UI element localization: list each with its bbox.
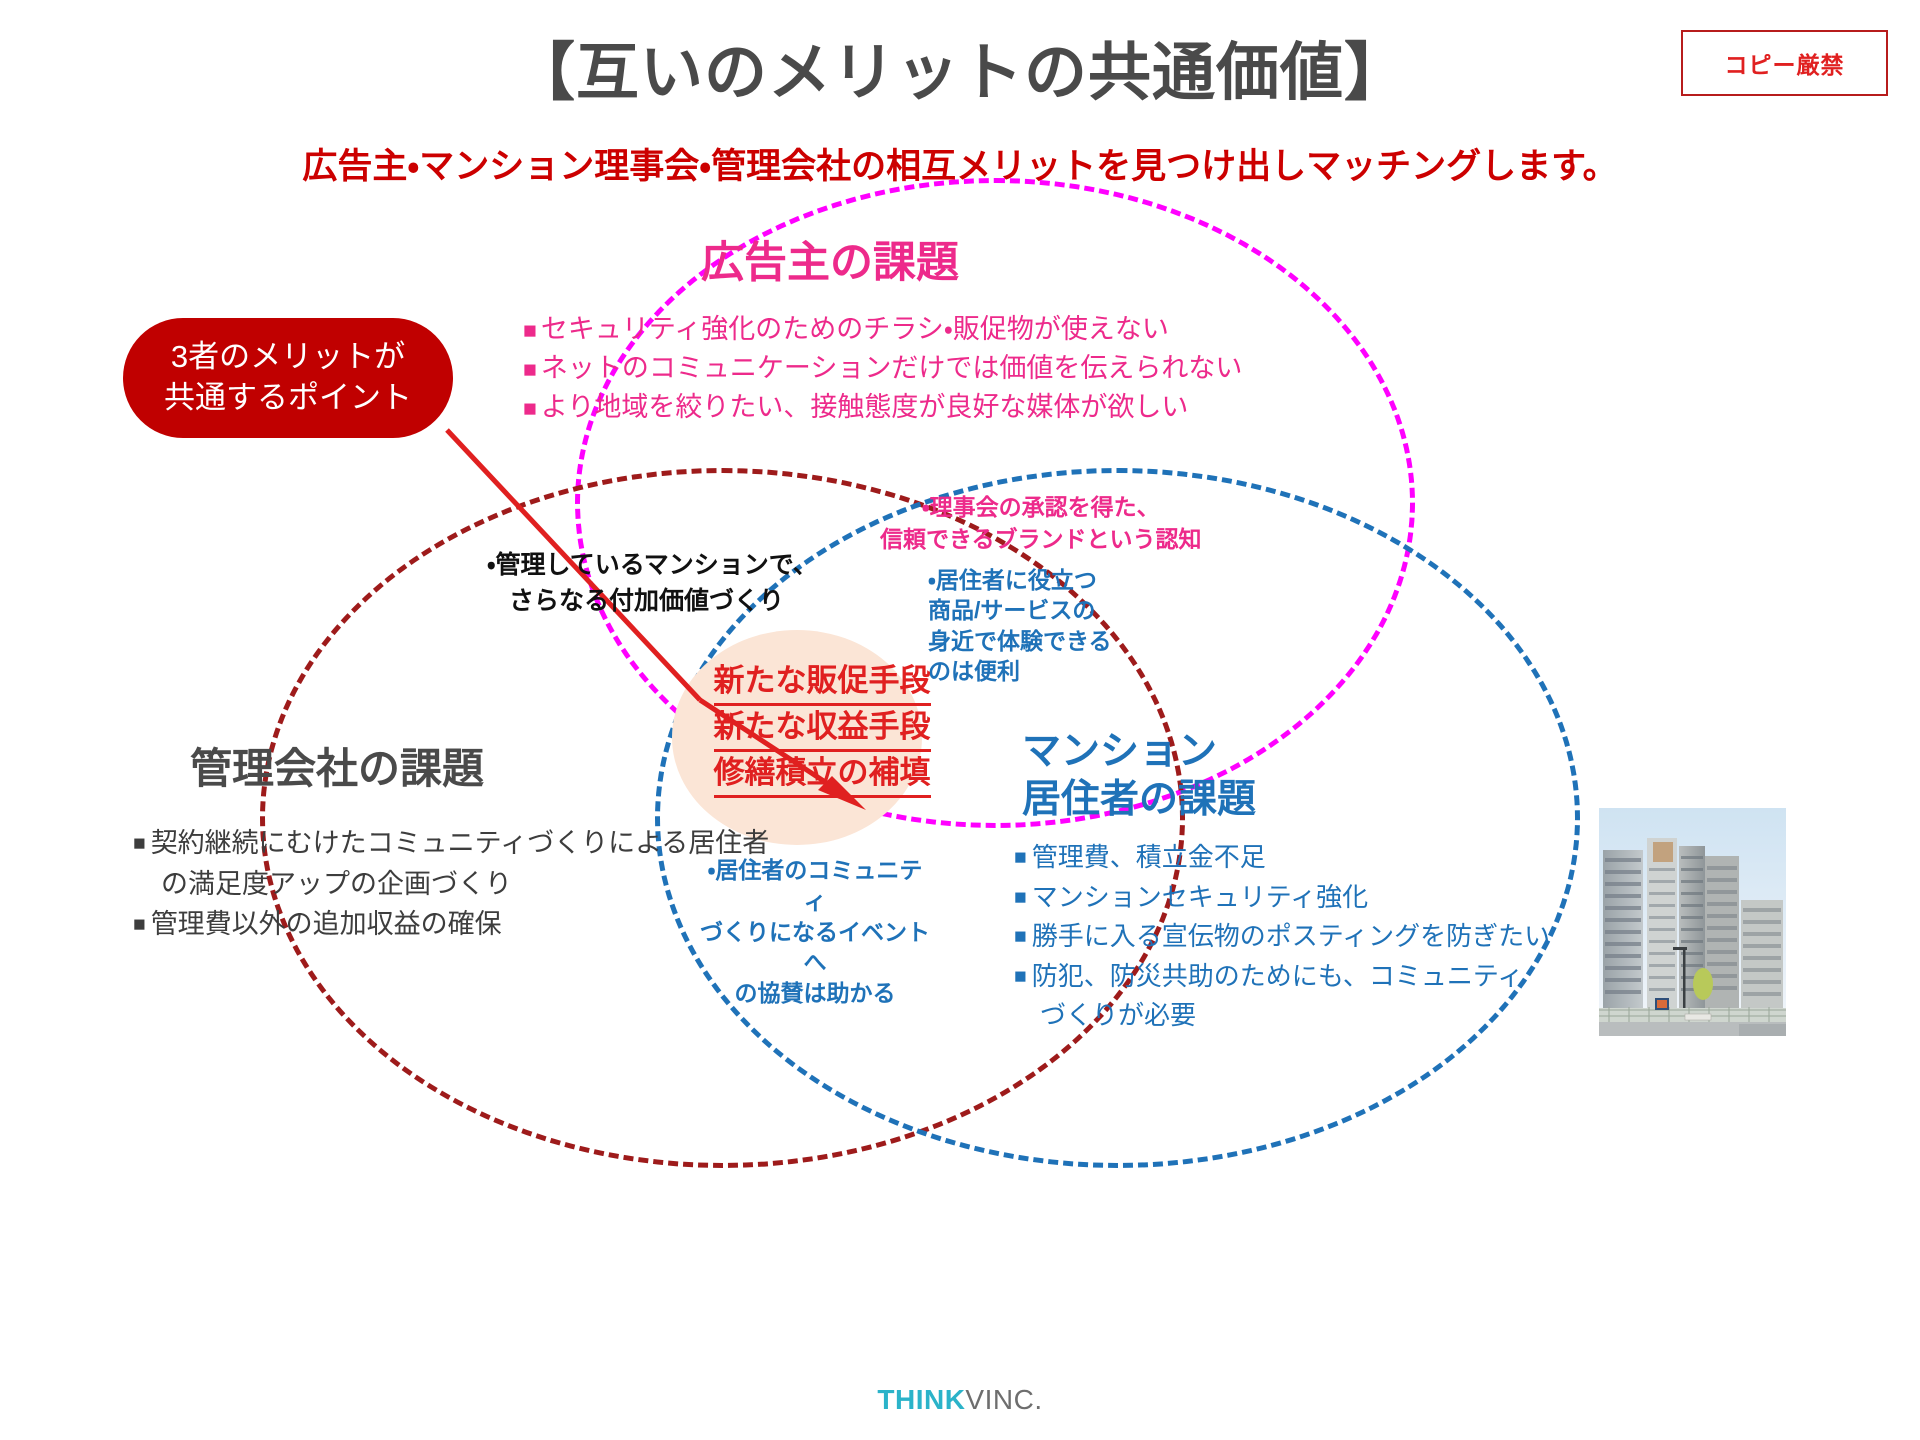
overlap-mrb-line-1: ・居住者のコミュニティ <box>700 855 930 917</box>
square-bullet-icon: ■ <box>523 317 537 343</box>
residents-bullet-list: ■管理費、積立金不足 ■マンションセキュリティ強化 ■勝手に入る宣伝物のポスティ… <box>1014 838 1550 1036</box>
list-item: ■管理費以外の追加収益の確保 <box>133 904 769 945</box>
advertiser-bullet-1: セキュリティ強化のためのチラシ・販促物が使えない <box>541 314 1169 344</box>
residents-bullet-4: 防犯、防災共助のためにも、コミュニティ <box>1032 961 1524 991</box>
overlap-mrb-line-3: の協賛は助かる <box>700 978 930 1009</box>
advertiser-title: 広告主の課題 <box>0 228 1920 290</box>
footer-logo: THINKVINC. <box>0 1384 1920 1416</box>
slide-canvas: 【互いのメリットの共通価値】 広告主・マンション理事会・管理会社の相互メリットを… <box>0 0 1920 1440</box>
management-bullet-2: 管理費以外の追加収益の確保 <box>151 909 502 939</box>
residents-bullet-4-continuation: づくりが必要 <box>1014 996 1550 1036</box>
square-bullet-icon: ■ <box>1014 925 1027 948</box>
square-bullet-icon: ■ <box>133 832 146 855</box>
overlap-ma-line-1: ・管理しているマンションで、 <box>487 548 818 584</box>
callout-line-1: 3者のメリットが <box>171 337 405 378</box>
list-item: ■セキュリティ強化のためのチラシ・販促物が使えない <box>523 310 1242 349</box>
center-shared-value-text: 新たな販促手段 新たな収益手段 修繕積立の補填 <box>702 660 942 798</box>
list-item: ■契約継続にむけたコミュニティづくりによる居住者 <box>133 823 769 864</box>
page-title: 【互いのメリットの共通価値】 <box>0 22 1920 113</box>
overlap-management-advertiser: ・管理しているマンションで、 さらなる付加価値づくり <box>487 548 818 619</box>
overlap-advertiser-residents-right: ・居住者に役立つ 商品/サービスの 身近で体験できる のは便利 <box>928 565 1112 686</box>
square-bullet-icon: ■ <box>1014 886 1027 909</box>
overlap-arr-line-4: のは便利 <box>928 656 1112 686</box>
list-item: ■マンションセキュリティ強化 <box>1014 878 1550 918</box>
shared-benefit-callout[interactable]: 3者のメリットが 共通するポイント <box>123 318 453 438</box>
residents-title-line-2: 居住者の課題 <box>1022 776 1256 824</box>
advertiser-title-text: 広告主の課題 <box>701 239 959 287</box>
residents-bullet-1: 管理費、積立金不足 <box>1032 842 1266 872</box>
square-bullet-icon: ■ <box>523 356 537 382</box>
advertiser-bullet-list: ■セキュリティ強化のためのチラシ・販促物が使えない ■ネットのコミュニケーション… <box>523 310 1242 427</box>
copy-restriction-badge: コピー厳禁 <box>1681 30 1888 96</box>
center-line-2: 新たな収益手段 <box>714 706 931 752</box>
residents-title: マンション 居住者の課題 <box>1022 728 1256 823</box>
overlap-ma-line-2: さらなる付加価値づくり <box>487 584 818 620</box>
overlap-arr-line-3: 身近で体験できる <box>928 626 1112 656</box>
overlap-management-residents-bottom: ・居住者のコミュニティ づくりになるイベントへ の協賛は助かる <box>700 855 930 1009</box>
logo-vinc-text: VINC. <box>965 1384 1042 1415</box>
apartment-building-photo <box>1599 808 1786 1036</box>
management-company-title: 管理会社の課題 <box>190 735 484 796</box>
advertiser-bullet-2: ネットのコミュニケーションだけでは価値を伝えられない <box>541 353 1242 383</box>
management-company-bullet-list: ■契約継続にむけたコミュニティづくりによる居住者 の満足度アップの企画づくり ■… <box>133 823 769 945</box>
overlap-arr-line-1: ・居住者に役立つ <box>928 565 1112 595</box>
list-item: ■より地域を絞りたい、接触態度が良好な媒体が欲しい <box>523 388 1242 427</box>
list-item: ■勝手に入る宣伝物のポスティングを防ぎたい <box>1014 917 1550 957</box>
apartment-building-illustration <box>1599 808 1786 1036</box>
overlap-advertiser-residents-top: ・理事会の承認を得た、 信頼できるブランドという認知 <box>880 492 1202 555</box>
callout-line-2: 共通するポイント <box>164 378 412 419</box>
list-item: ■管理費、積立金不足 <box>1014 838 1550 878</box>
list-item: ■防犯、防災共助のためにも、コミュニティ <box>1014 957 1550 997</box>
center-line-3: 修繕積立の補填 <box>714 752 931 798</box>
list-item: ■ネットのコミュニケーションだけでは価値を伝えられない <box>523 349 1242 388</box>
residents-bullet-2: マンションセキュリティ強化 <box>1032 882 1368 912</box>
square-bullet-icon: ■ <box>523 395 537 421</box>
residents-title-line-1: マンション <box>1022 728 1256 776</box>
overlap-mrb-line-2: づくりになるイベントへ <box>700 917 930 979</box>
management-bullet-1: 契約継続にむけたコミュニティづくりによる居住者 <box>151 828 770 858</box>
residents-bullet-3: 勝手に入る宣伝物のポスティングを防ぎたい <box>1032 921 1550 951</box>
overlap-art-line-1: ・理事会の承認を得た、 <box>880 492 1202 524</box>
advertiser-bullet-3: より地域を絞りたい、接触態度が良好な媒体が欲しい <box>541 392 1188 422</box>
overlap-arr-line-2: 商品/サービスの <box>928 595 1112 625</box>
logo-think-text: THINK <box>877 1384 965 1415</box>
square-bullet-icon: ■ <box>133 913 146 936</box>
copy-restriction-label: コピー厳禁 <box>1725 46 1845 80</box>
overlap-art-line-2: 信頼できるブランドという認知 <box>880 524 1202 556</box>
management-bullet-1-continuation: の満足度アップの企画づくり <box>133 864 769 905</box>
center-line-1: 新たな販促手段 <box>714 660 931 706</box>
square-bullet-icon: ■ <box>1014 965 1027 988</box>
square-bullet-icon: ■ <box>1014 846 1027 869</box>
